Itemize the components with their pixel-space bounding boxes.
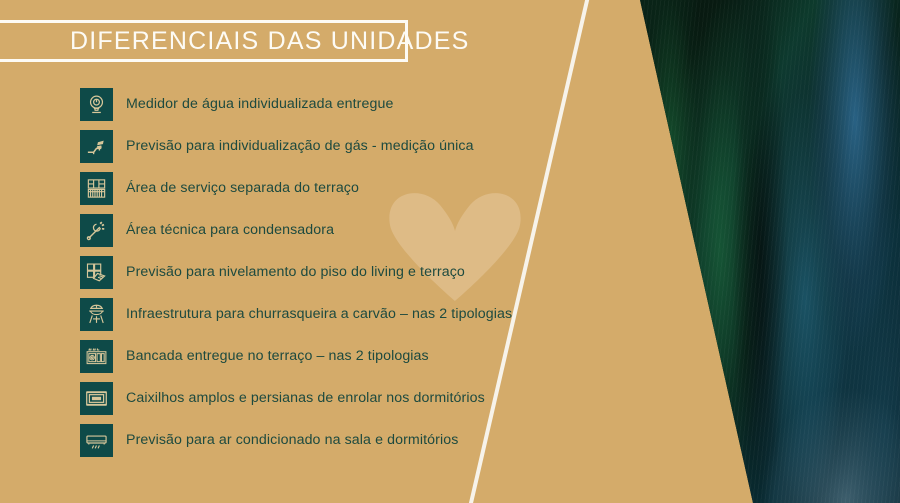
list-item: Área técnica para condensadora xyxy=(80,214,580,246)
window-frame-blinds-icon xyxy=(80,382,113,415)
list-item-label: Medidor de água individualizada entregue xyxy=(126,96,393,112)
list-item: Área de serviço separada do terraço xyxy=(80,172,580,204)
list-item: Medidor de água individualizada entregue xyxy=(80,88,580,120)
list-item: Bancada entregue no terraço – nas 2 tipo… xyxy=(80,340,580,372)
laundry-area-icon xyxy=(80,172,113,205)
charcoal-grill-icon xyxy=(80,298,113,331)
list-item-label: Infraestrutura para churrasqueira a carv… xyxy=(126,306,512,322)
list-item-label: Previsão para nivelamento do piso do liv… xyxy=(126,264,465,280)
list-item: Infraestrutura para churrasqueira a carv… xyxy=(80,298,580,330)
list-item: Previsão para individualização de gás - … xyxy=(80,130,580,162)
water-meter-icon xyxy=(80,88,113,121)
air-conditioner-icon xyxy=(80,424,113,457)
list-item: Previsão para nivelamento do piso do liv… xyxy=(80,256,580,288)
floor-leveling-tiles-icon xyxy=(80,256,113,289)
leaf-photograph xyxy=(600,0,900,503)
list-item: Caixilhos amplos e persianas de enrolar … xyxy=(80,382,580,414)
list-item-label: Área técnica para condensadora xyxy=(126,222,334,238)
features-list: Medidor de água individualizada entregue… xyxy=(80,88,580,466)
page-title: DIFERENCIAIS DAS UNIDADES xyxy=(70,27,470,56)
gas-valve-icon xyxy=(80,130,113,163)
list-item-label: Previsão para individualização de gás - … xyxy=(126,138,474,154)
leaf-photograph-art xyxy=(600,0,900,503)
list-item-label: Caixilhos amplos e persianas de enrolar … xyxy=(126,390,485,406)
countertop-bench-icon xyxy=(80,340,113,373)
technical-area-wrench-icon xyxy=(80,214,113,247)
list-item-label: Bancada entregue no terraço – nas 2 tipo… xyxy=(126,348,429,364)
list-item-label: Área de serviço separada do terraço xyxy=(126,180,359,196)
slide-root: DIFERENCIAIS DAS UNIDADES Medidor de águ… xyxy=(0,0,900,503)
list-item: Previsão para ar condicionado na sala e … xyxy=(80,424,580,456)
list-item-label: Previsão para ar condicionado na sala e … xyxy=(126,432,458,448)
